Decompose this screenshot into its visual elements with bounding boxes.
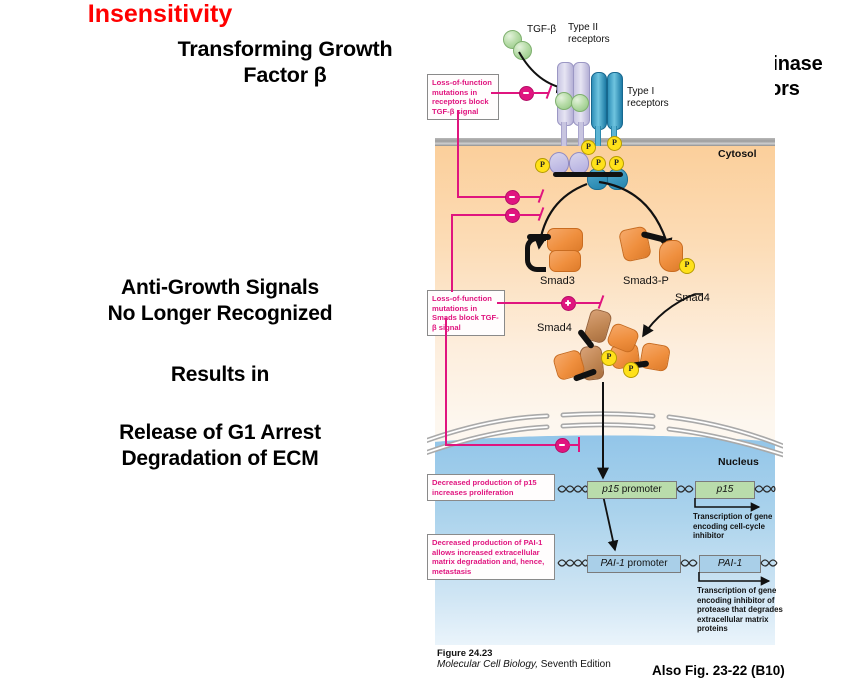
tgf-beta-ligand-label: TGF-β bbox=[527, 24, 556, 36]
figure-number: Figure 24.23 bbox=[437, 648, 697, 659]
pink-line-vertical-1 bbox=[457, 110, 459, 198]
smad3-domain-lower bbox=[549, 250, 581, 272]
anti-growth-line-1: Anti-Growth Signals bbox=[55, 275, 385, 301]
dna-squiggle-p15-left bbox=[557, 482, 589, 496]
p15-promoter-box: p15 promoter bbox=[587, 481, 677, 499]
figure-source-edition: Seventh Edition bbox=[538, 659, 611, 670]
bound-ligand-ball-2 bbox=[571, 94, 589, 112]
pink-line-smad4-activation bbox=[497, 302, 563, 304]
nuclear-import-arrow-icon bbox=[597, 382, 611, 486]
phosphate-circle-r3: P bbox=[607, 136, 622, 151]
phosphate-circle-complex-1: P bbox=[601, 350, 617, 366]
phosphate-circle-r4: P bbox=[591, 156, 606, 171]
pink-line-branch-2b bbox=[517, 214, 541, 216]
results-in-text: Results in bbox=[55, 362, 385, 388]
callout-p15-decrease: Decreased production of p15 increases pr… bbox=[427, 474, 555, 501]
type2-kinase-domain-1 bbox=[549, 152, 569, 174]
smad4-leader-label: Smad4 bbox=[675, 292, 710, 304]
dna-squiggle-pai1-right bbox=[760, 556, 780, 570]
cytosol-label: Cytosol bbox=[718, 148, 757, 160]
pink-line-branch-1 bbox=[457, 196, 509, 198]
dna-squiggle-pai1-left bbox=[557, 556, 589, 570]
results-in-line: Results in bbox=[55, 362, 385, 388]
phosphate-circle-complex-2: P bbox=[623, 362, 639, 378]
release-line-1: Release of G1 Arrest bbox=[55, 420, 385, 446]
nucleus-label: Nucleus bbox=[718, 456, 759, 468]
type2-receptor-label: Type II receptors bbox=[568, 22, 632, 46]
callout-pai1-decrease: Decreased production of PAI-1 allows inc… bbox=[427, 534, 555, 580]
p15-transcription-arrow-icon bbox=[693, 496, 769, 512]
insensitivity-heading: Insensitivity bbox=[0, 0, 320, 29]
dna-squiggle-p15-mid bbox=[676, 482, 694, 496]
pai1-transcription-arrow-icon bbox=[697, 570, 779, 586]
pink-line-branch-1b bbox=[517, 196, 541, 198]
smad3-domain-upper bbox=[547, 228, 583, 252]
anti-growth-text-block: Anti-Growth Signals No Longer Recognized bbox=[55, 275, 385, 327]
type1-receptor-barrel-1 bbox=[591, 72, 607, 130]
pink-line-vertical-3 bbox=[445, 318, 447, 446]
release-text-block: Release of G1 Arrest Degradation of ECM bbox=[55, 420, 385, 472]
left-text-column: Transforming Growth Factor β Insensitivi… bbox=[0, 0, 420, 700]
anti-growth-line-2: No Longer Recognized bbox=[55, 301, 385, 327]
phosphate-circle-r5: P bbox=[609, 156, 624, 171]
pink-line-smad4-activation-b bbox=[573, 302, 601, 304]
smad4-complex-label: Smad4 bbox=[537, 322, 572, 334]
also-figure-note: Also Fig. 23-22 (B10) bbox=[652, 663, 785, 678]
callout-smad-mutations: Loss-of-function mutations in Smads bloc… bbox=[427, 290, 505, 336]
type2-kinase-domain-2 bbox=[569, 152, 589, 174]
callout-receptor-mutations: Loss-of-function mutations in receptors … bbox=[427, 74, 499, 120]
tgf-beta-title: Transforming Growth Factor β bbox=[150, 36, 420, 88]
phosphate-circle-r2: P bbox=[581, 140, 596, 155]
phosphate-circle-r1: P bbox=[535, 158, 550, 173]
smad3-label: Smad3 bbox=[540, 275, 575, 287]
type1-receptor-stalk-1 bbox=[595, 126, 601, 146]
figure-source-title: Molecular Cell Biology, bbox=[437, 659, 538, 670]
smad3p-label: Smad3-P bbox=[623, 275, 669, 287]
pai1-promoter-box: PAI-1 promoter bbox=[587, 555, 681, 573]
phosphate-circle-smad3p: P bbox=[679, 258, 695, 274]
type1-receptor-label: Type I receptors bbox=[627, 86, 687, 110]
plasma-membrane bbox=[435, 138, 775, 146]
pink-line-nucleus-branch bbox=[445, 444, 557, 446]
type1-receptor-barrel-2 bbox=[607, 72, 623, 130]
pink-line-vertical-2 bbox=[451, 216, 453, 292]
release-line-2: Degradation of ECM bbox=[55, 446, 385, 472]
pink-stop-p15 bbox=[578, 437, 580, 452]
pai1-transcription-note: Transcription of gene encoding inhibitor… bbox=[697, 586, 787, 634]
complex-smad-domain-right bbox=[639, 342, 671, 372]
smad3-hook bbox=[525, 236, 546, 272]
p15-transcription-note: Transcription of gene encoding cell-cycl… bbox=[693, 512, 777, 541]
tgf-beta-pathway-figure: Cytosol Nucleus TGF-β Type II receptors … bbox=[435, 0, 775, 645]
type2-receptor-stalk-1 bbox=[561, 122, 567, 146]
pink-line-branch-2 bbox=[451, 214, 507, 216]
dna-squiggle-p15-right bbox=[754, 482, 776, 496]
dna-squiggle-pai1-mid bbox=[680, 556, 698, 570]
